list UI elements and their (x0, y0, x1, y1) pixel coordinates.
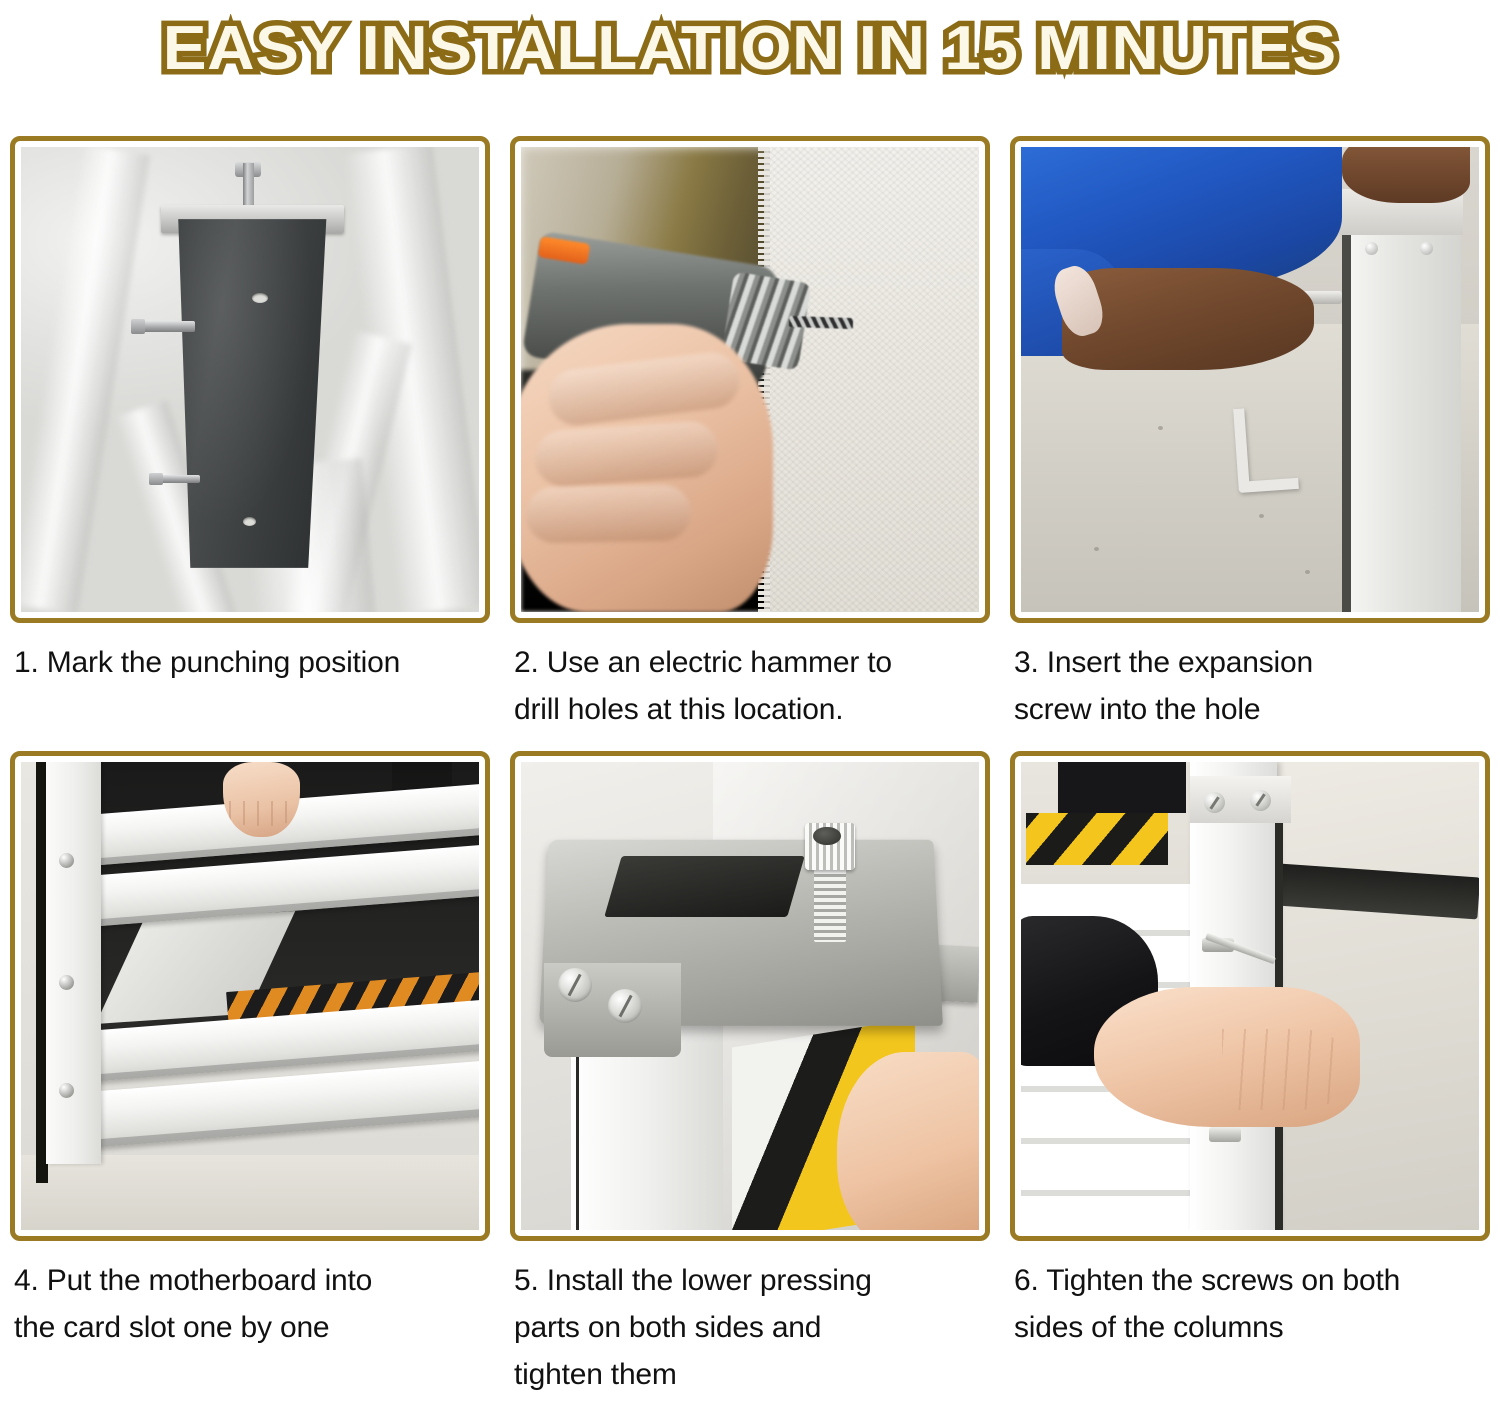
page-title-banner: EASY INSTALLATION IN 15 MINUTES (0, 0, 1500, 98)
caption-line: 6. Tighten the screws on both (1014, 1257, 1490, 1304)
hand-supporting-board (837, 1052, 979, 1230)
wall-surface (764, 147, 979, 612)
drill-bit-icon (789, 316, 853, 329)
step-card-3: 3. Insert the expansion screw into the h… (1010, 136, 1490, 733)
photo-lower-pressing-part-with-thumb-screw (521, 762, 979, 1230)
column-screw-icon (1250, 790, 1271, 811)
step-caption-4: 4. Put the motherboard into the card slo… (10, 1257, 490, 1351)
step-caption-1: 1. Mark the punching position (10, 639, 490, 686)
step-caption-3: 3. Insert the expansion screw into the h… (1010, 639, 1490, 733)
side-bolt-lower (149, 475, 199, 483)
bracket-screw-icon (558, 968, 592, 1002)
white-column (1342, 189, 1461, 612)
step-photo-frame-3 (1010, 136, 1490, 623)
caption-line: tighten them (514, 1351, 990, 1398)
bracket-screw-icon (608, 989, 642, 1023)
caption-line: parts on both sides and (514, 1304, 990, 1351)
worker-upper-arm (1342, 147, 1470, 203)
allen-key-icon (1233, 405, 1298, 493)
bracket-slot-opening (604, 856, 805, 917)
step-card-1: 1. Mark the punching position (10, 136, 490, 733)
caption-line: the card slot one by one (14, 1304, 490, 1351)
step-photo-frame-4 (10, 751, 490, 1241)
caption-line: 1. Mark the punching position (14, 639, 490, 686)
caption-line: 5. Install the lower pressing (514, 1257, 990, 1304)
steps-grid: 1. Mark the punching position 2 (10, 136, 1490, 1398)
photo-sliding-boards-into-card-slot (21, 762, 479, 1230)
column-screw-icon (59, 975, 74, 990)
slot-column (46, 762, 101, 1164)
step-photo-frame-6 (1010, 751, 1490, 1241)
step-card-6: 6. Tighten the screws on both sides of t… (1010, 751, 1490, 1398)
caption-line: 3. Insert the expansion (1014, 639, 1490, 686)
marked-hole-lower (243, 517, 256, 526)
step-card-5: 5. Install the lower pressing parts on b… (510, 751, 990, 1398)
caption-line: screw into the hole (1014, 686, 1490, 733)
step-caption-5: 5. Install the lower pressing parts on b… (510, 1257, 990, 1398)
bolt-shaft-icon (243, 163, 254, 205)
step-caption-2: 2. Use an electric hammer to drill holes… (510, 639, 990, 733)
side-bolt-upper (131, 321, 195, 332)
thumb-screw-shaft (814, 863, 846, 943)
step-card-4: 4. Put the motherboard into the card slo… (10, 751, 490, 1398)
page-title: EASY INSTALLATION IN 15 MINUTES (163, 15, 1337, 83)
step-photo-frame-2 (510, 136, 990, 623)
caption-line: sides of the columns (1014, 1304, 1490, 1351)
photo-marked-column-post-on-white-cloth (21, 147, 479, 612)
step-photo-frame-5 (510, 751, 990, 1241)
caption-line: 4. Put the motherboard into (14, 1257, 490, 1304)
installation-guide-page: EASY INSTALLATION IN 15 MINUTES (0, 0, 1500, 1403)
caption-line: 2. Use an electric hammer to (514, 639, 990, 686)
hazard-stripe-tape (1026, 813, 1168, 864)
caption-line: drill holes at this location. (514, 686, 990, 733)
step-photo-frame-1 (10, 136, 490, 623)
thumb-screw-head-icon (805, 823, 855, 870)
lower-bolt-icon (1209, 1127, 1241, 1142)
column-screw-icon (59, 853, 74, 868)
photo-electric-hammer-drilling-wall (521, 147, 979, 612)
step-caption-6: 6. Tighten the screws on both sides of t… (1010, 1257, 1490, 1351)
hand-tightening-screw (1094, 987, 1360, 1127)
step-card-2: 2. Use an electric hammer to drill holes… (510, 136, 990, 733)
photo-tightening-column-screws (1021, 762, 1479, 1230)
column-screw-icon (59, 1083, 74, 1098)
photo-worker-inserting-expansion-screw (1021, 147, 1479, 612)
column-post (177, 219, 328, 568)
